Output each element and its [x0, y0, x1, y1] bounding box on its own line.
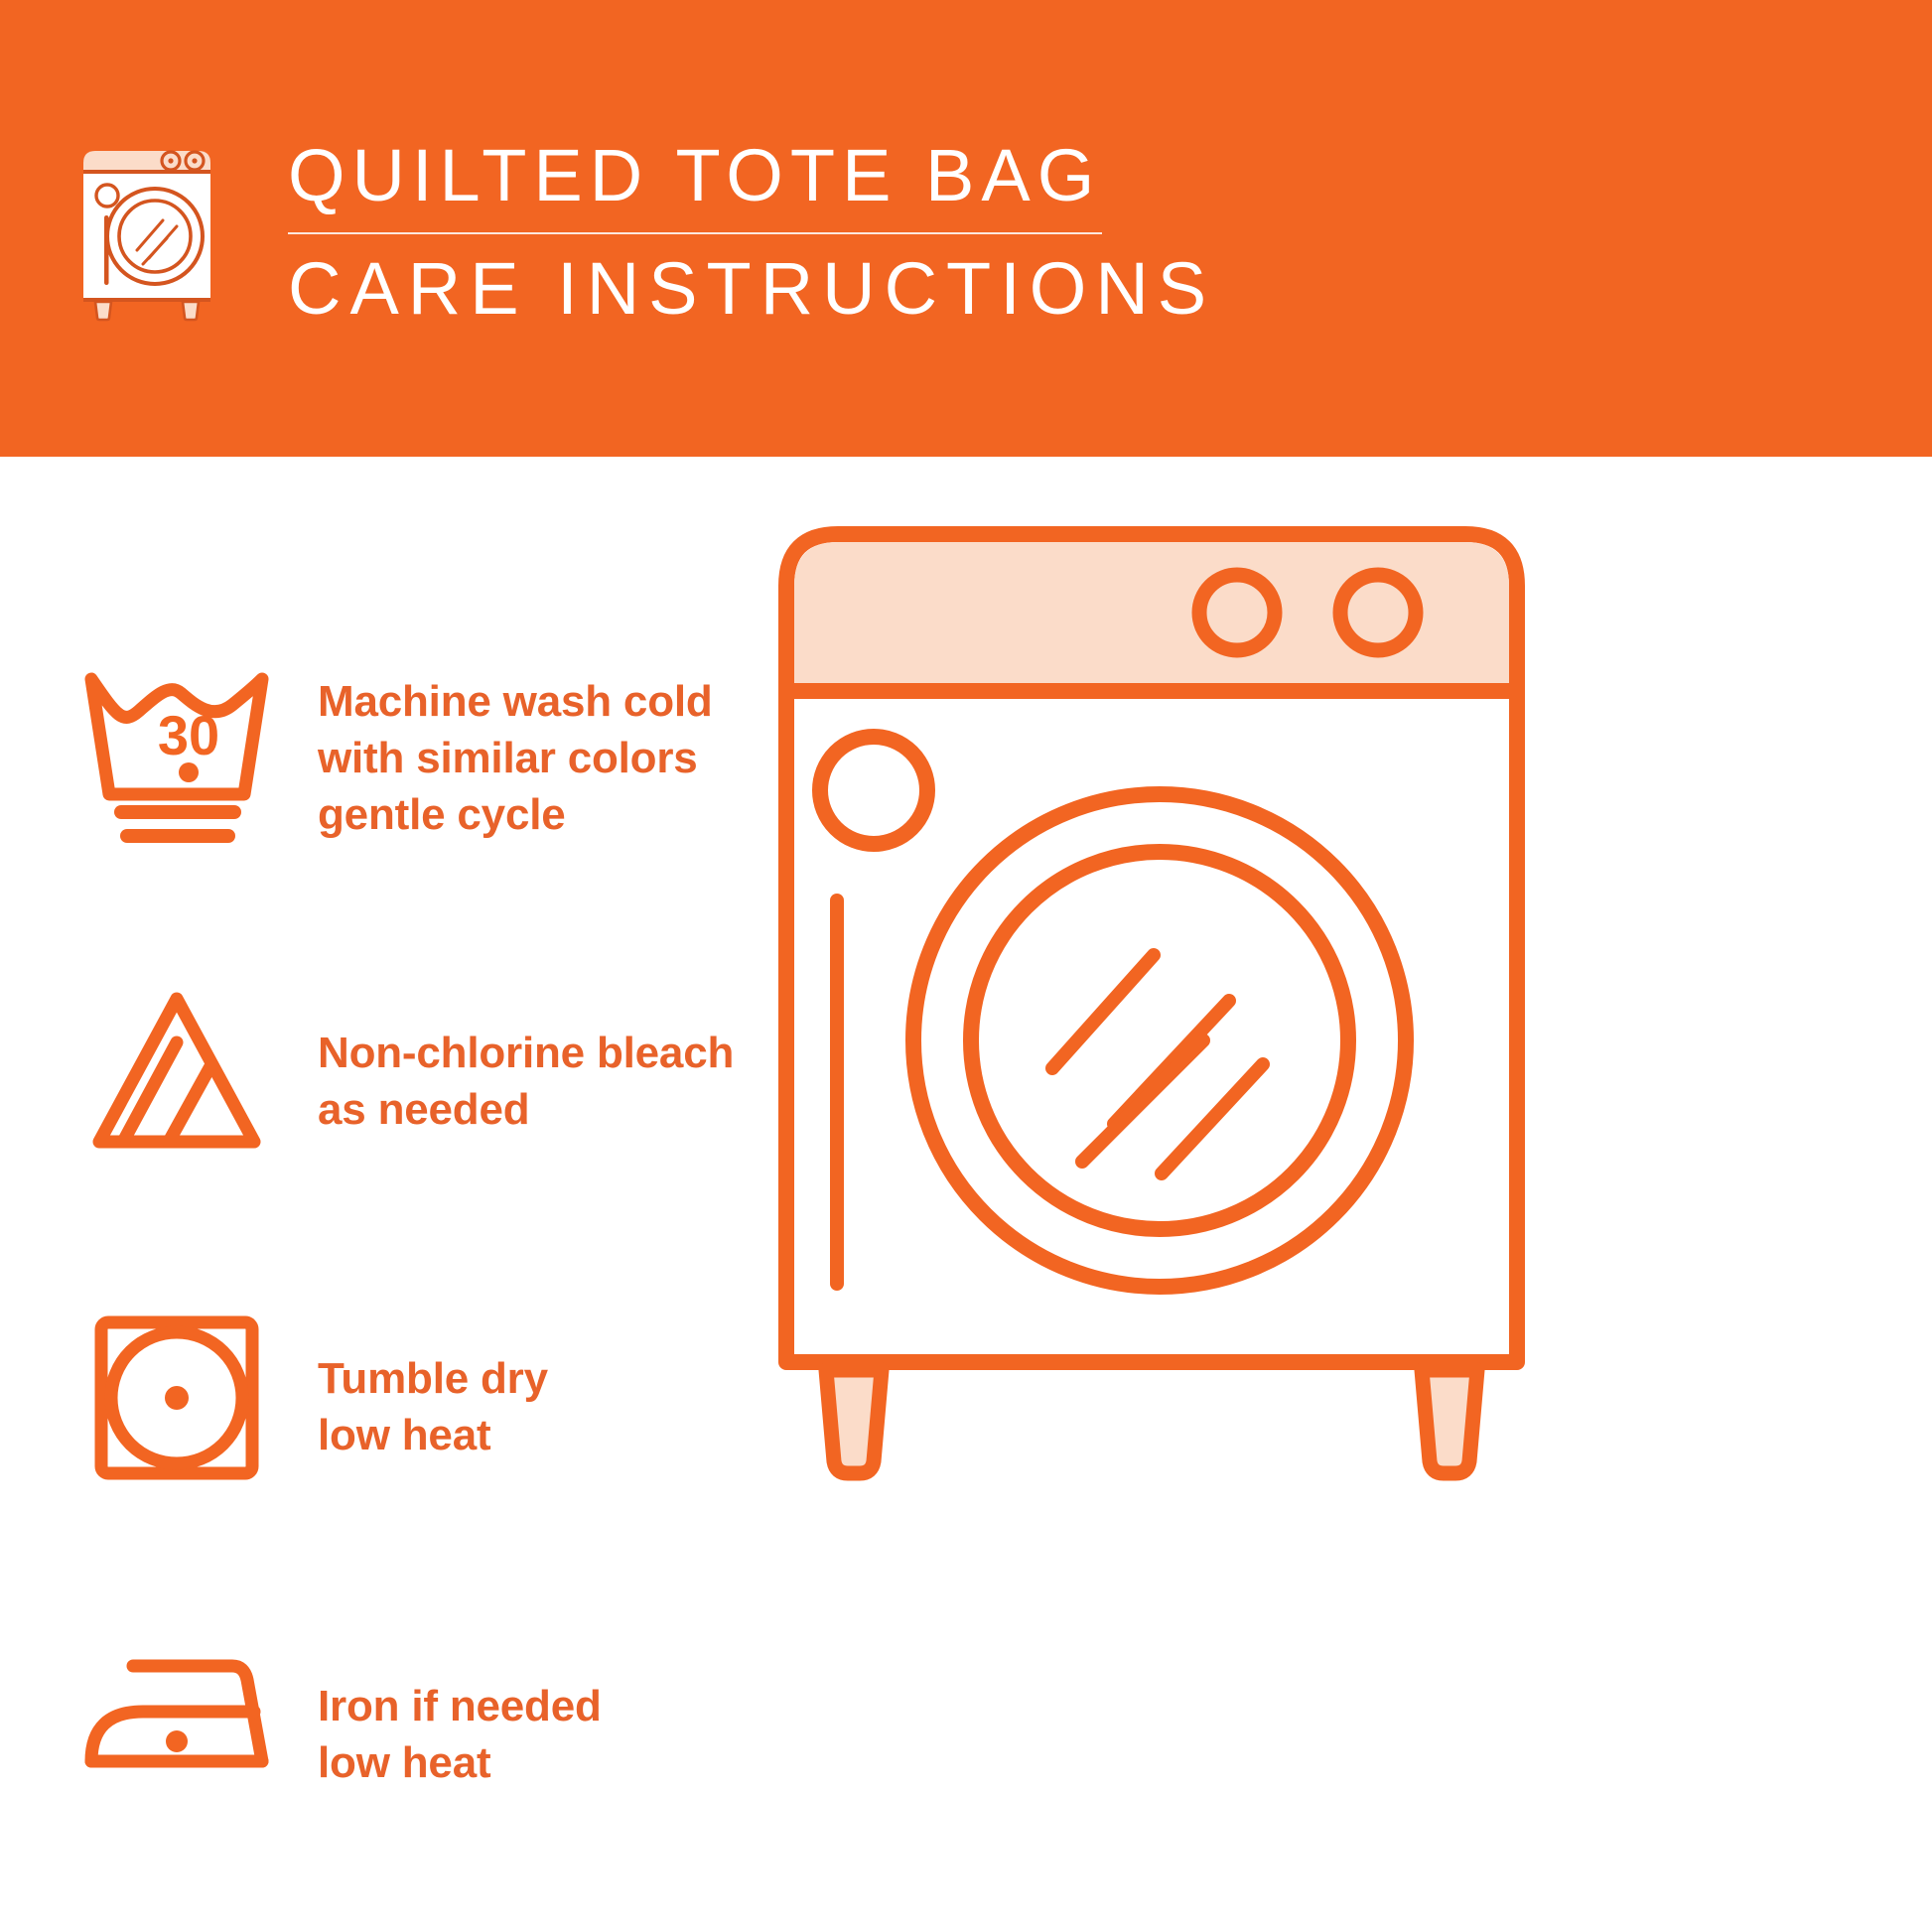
care-row-tumble-dry: Tumble dry low heat	[77, 1299, 772, 1497]
header-title-block: QUILTED TOTE BAG CARE INSTRUCTIONS	[288, 137, 1318, 326]
care-label-line: with similar colors	[318, 730, 713, 786]
care-label-tumble-dry: Tumble dry low heat	[318, 1299, 548, 1463]
washer-leg-right	[1422, 1370, 1477, 1473]
care-label-machine-wash: Machine wash cold with similar colors ge…	[318, 655, 713, 844]
care-instruction-list: 30 Machine wash cold with similar colors…	[77, 655, 772, 1819]
care-label-line: low heat	[318, 1407, 548, 1463]
washer-knob-left	[1199, 575, 1275, 650]
washer-knob-right	[1340, 575, 1416, 650]
care-label-line: low heat	[318, 1734, 602, 1791]
care-row-machine-wash: 30 Machine wash cold with similar colors…	[77, 655, 772, 854]
title-divider	[288, 232, 1102, 234]
wash-basin-30-icon: 30	[77, 655, 276, 854]
header-band: QUILTED TOTE BAG CARE INSTRUCTIONS	[0, 0, 1932, 457]
care-label-line: as needed	[318, 1081, 734, 1138]
care-row-iron: Iron if needed low heat	[77, 1620, 772, 1819]
large-washing-machine-illustration	[764, 496, 1539, 1499]
care-label-line: Iron if needed	[318, 1678, 602, 1734]
care-label-line: Machine wash cold	[318, 673, 713, 730]
washer-leg-left	[826, 1370, 882, 1473]
care-label-bleach: Non-chlorine bleach as needed	[318, 977, 734, 1138]
care-label-line: gentle cycle	[318, 786, 713, 843]
care-label-line: Non-chlorine bleach	[318, 1025, 734, 1081]
wash-temperature-value: 30	[158, 704, 219, 766]
tumble-dry-low-icon	[77, 1299, 276, 1497]
header-content: QUILTED TOTE BAG CARE INSTRUCTIONS	[68, 137, 1318, 336]
page-title-secondary: CARE INSTRUCTIONS	[288, 252, 1318, 326]
care-label-iron: Iron if needed low heat	[318, 1620, 602, 1791]
iron-low-heat-icon	[77, 1620, 276, 1819]
care-row-bleach: Non-chlorine bleach as needed	[77, 977, 772, 1175]
page-title-primary: QUILTED TOTE BAG	[288, 139, 1318, 212]
washing-machine-icon	[68, 141, 226, 322]
washer-vertical-bar	[830, 894, 844, 1291]
bleach-triangle-icon	[77, 977, 276, 1175]
care-label-line: Tumble dry	[318, 1350, 548, 1407]
